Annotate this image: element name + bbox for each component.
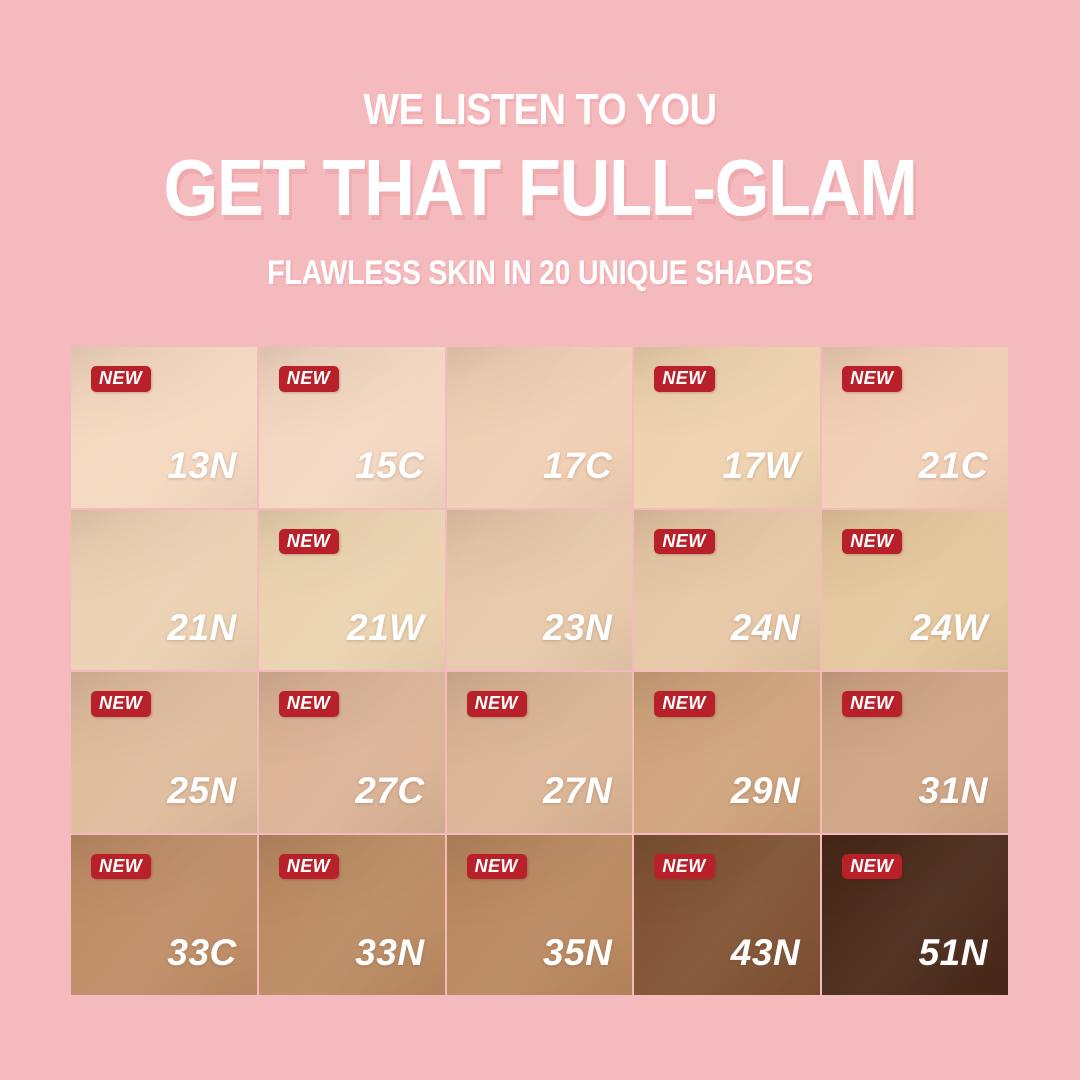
new-badge: NEW — [654, 529, 714, 555]
shade-code-label: 33N — [355, 934, 424, 971]
shade-swatch[interactable]: NEW27C — [259, 672, 445, 833]
shade-code-label: 25N — [167, 772, 236, 809]
new-badge: NEW — [91, 691, 151, 717]
new-badge: NEW — [91, 854, 151, 880]
shade-swatch[interactable]: 21N — [71, 510, 257, 671]
new-badge: NEW — [842, 854, 902, 880]
shade-swatch[interactable]: NEW13N — [71, 347, 257, 508]
shade-swatch[interactable]: NEW33C — [71, 835, 257, 996]
shade-swatch[interactable]: NEW29N — [634, 672, 820, 833]
shade-code-label: 27C — [355, 772, 424, 809]
shade-code-label: 24N — [731, 609, 800, 646]
shade-code-label: 51N — [919, 934, 988, 971]
new-badge: NEW — [279, 366, 339, 392]
shade-code-label: 35N — [543, 934, 612, 971]
shade-code-label: 15C — [355, 447, 424, 484]
shade-code-label: 29N — [731, 772, 800, 809]
shade-code-label: 21W — [347, 609, 425, 646]
shade-code-label: 23N — [543, 609, 612, 646]
shade-code-label: 13N — [167, 447, 236, 484]
page-title: GET THAT FULL-GLAM — [65, 146, 1015, 230]
new-badge: NEW — [279, 854, 339, 880]
shade-swatch[interactable]: NEW17W — [634, 347, 820, 508]
new-badge: NEW — [91, 366, 151, 392]
shade-swatch[interactable]: NEW25N — [71, 672, 257, 833]
subheading: FLAWLESS SKIN IN 20 UNIQUE SHADES — [86, 254, 993, 292]
new-badge: NEW — [279, 529, 339, 555]
new-badge: NEW — [654, 691, 714, 717]
shade-swatch[interactable]: NEW33N — [259, 835, 445, 996]
shade-swatch[interactable]: NEW15C — [259, 347, 445, 508]
shade-code-label: 31N — [919, 772, 988, 809]
shade-swatch[interactable]: NEW21W — [259, 510, 445, 671]
shade-swatch[interactable]: NEW27N — [447, 672, 633, 833]
shade-swatch[interactable]: 17C — [447, 347, 633, 508]
kicker-heading: WE LISTEN TO YOU — [76, 86, 1005, 134]
new-badge: NEW — [654, 366, 714, 392]
new-badge: NEW — [842, 529, 902, 555]
shade-code-label: 21C — [919, 447, 988, 484]
shade-code-label: 27N — [543, 772, 612, 809]
shade-swatch[interactable]: NEW43N — [634, 835, 820, 996]
new-badge: NEW — [842, 691, 902, 717]
shade-code-label: 33C — [167, 934, 236, 971]
new-badge: NEW — [279, 691, 339, 717]
new-badge: NEW — [842, 366, 902, 392]
headings-block: WE LISTEN TO YOU GET THAT FULL-GLAM FLAW… — [0, 0, 1080, 292]
shade-swatch-grid: NEW13NNEW15C17CNEW17WNEW21C21NNEW21W23NN… — [71, 347, 1008, 995]
new-badge: NEW — [654, 854, 714, 880]
shade-swatch[interactable]: NEW51N — [822, 835, 1008, 996]
new-badge: NEW — [467, 691, 527, 717]
shade-swatch[interactable]: NEW35N — [447, 835, 633, 996]
shade-code-label: 24W — [910, 609, 988, 646]
shade-code-label: 17C — [543, 447, 612, 484]
shade-swatch[interactable]: NEW24N — [634, 510, 820, 671]
shade-code-label: 17W — [723, 447, 801, 484]
shade-swatch[interactable]: NEW31N — [822, 672, 1008, 833]
shade-swatch[interactable]: NEW21C — [822, 347, 1008, 508]
new-badge: NEW — [467, 854, 527, 880]
shade-code-label: 21N — [167, 609, 236, 646]
shade-swatch[interactable]: 23N — [447, 510, 633, 671]
shade-swatch[interactable]: NEW24W — [822, 510, 1008, 671]
shade-code-label: 43N — [731, 934, 800, 971]
